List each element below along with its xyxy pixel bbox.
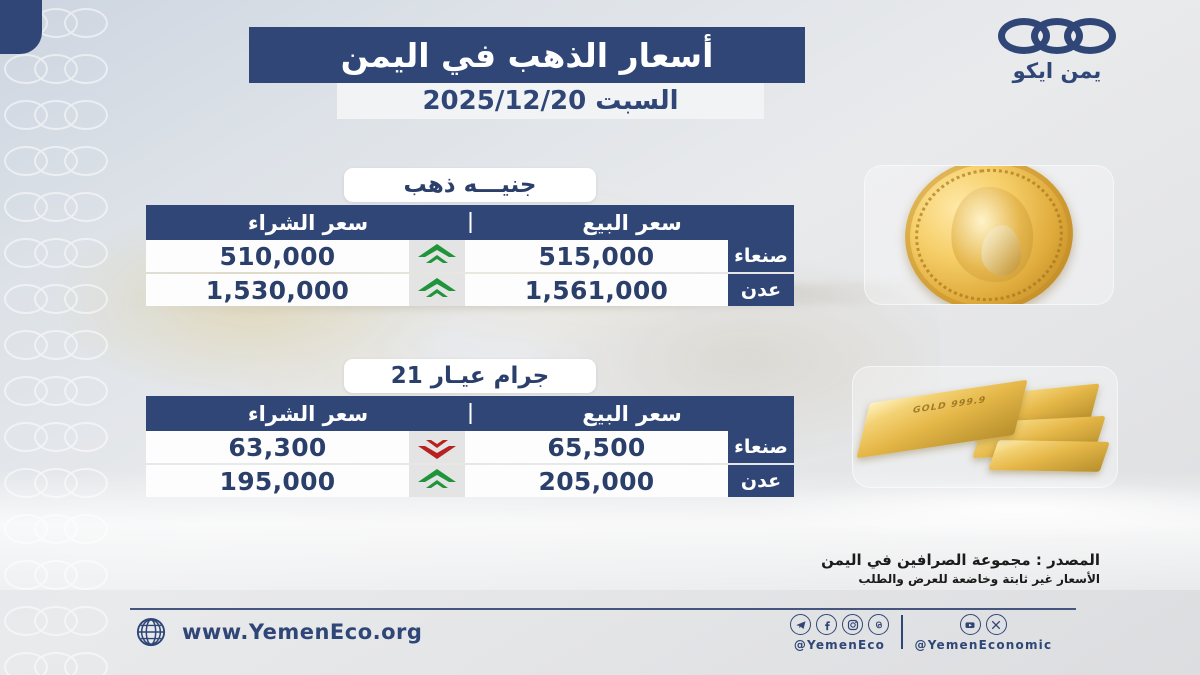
page-title-text: أسعار الذهب في اليمن — [341, 36, 714, 75]
watermark-ring-icon — [34, 100, 78, 130]
sell-price-cell: 1,561,000 — [465, 274, 728, 306]
watermark-ring-icon — [34, 468, 78, 498]
buy-price-cell: 510,000 — [146, 240, 409, 272]
price-section-gold-pound: جنيـــه ذهب سعر الشراء سعر البيع 510,000… — [146, 168, 794, 306]
watermark-ring-row — [4, 92, 120, 138]
watermark-ring-icon — [64, 192, 108, 222]
watermark-pattern — [0, 0, 120, 675]
source-disclaimer: الأسعار غير ثابتة وخاضعة للعرض والطلب — [821, 572, 1100, 586]
website-url: www.YemenEco.org — [182, 620, 422, 644]
double-chevron-down-icon — [417, 434, 457, 460]
sell-price-cell: 205,000 — [465, 465, 728, 497]
watermark-ring-row — [4, 276, 120, 322]
watermark-ring-row — [4, 368, 120, 414]
table-row: 1,530,000 1,561,000 عدن — [146, 274, 794, 306]
date-text: السبت 2025/12/20 — [422, 86, 678, 116]
watermark-ring-icon — [34, 514, 78, 544]
watermark-ring-icon — [4, 330, 48, 360]
page-title: أسعار الذهب في اليمن — [249, 27, 805, 83]
city-label: عدن — [728, 465, 794, 497]
double-chevron-up-icon — [417, 243, 457, 269]
watermark-ring-row — [4, 598, 120, 644]
column-header-sell: سعر البيع — [470, 396, 794, 431]
trend-cell — [409, 431, 465, 463]
city-label: صنعاء — [728, 431, 794, 463]
watermark-ring-icon — [64, 146, 108, 176]
watermark-ring-icon — [4, 422, 48, 452]
table-row: 195,000 205,000 عدن — [146, 465, 794, 497]
gold-price-infographic: أسعار الذهب في اليمن السبت 2025/12/20 يم… — [0, 0, 1200, 675]
watermark-ring-icon — [34, 330, 78, 360]
watermark-ring-icon — [4, 100, 48, 130]
watermark-ring-row — [4, 138, 120, 184]
watermark-ring-icon — [34, 606, 78, 636]
buy-price-cell: 1,530,000 — [146, 274, 409, 306]
price-table: سعر الشراء سعر البيع 510,000 515,000 صنع… — [146, 205, 794, 306]
watermark-ring-icon — [4, 652, 48, 675]
watermark-ring-icon — [4, 146, 48, 176]
source-note: المصدر : مجموعة الصرافين في اليمن الأسعا… — [821, 551, 1100, 586]
buy-price-cell: 63,300 — [146, 431, 409, 463]
city-label: عدن — [728, 274, 794, 306]
watermark-ring-row — [4, 184, 120, 230]
brand-logo: يمن ايكو — [992, 16, 1122, 83]
section-heading-text: جرام عيـار 21 — [391, 363, 550, 389]
table-header-row: سعر الشراء سعر البيع — [146, 396, 794, 431]
gold-bar-label: GOLD 999.9 — [911, 395, 987, 416]
date-banner: السبت 2025/12/20 — [337, 83, 764, 119]
watermark-ring-icon — [64, 284, 108, 314]
social-handle: @YemenEconomic — [915, 638, 1053, 652]
social-separator — [901, 615, 903, 649]
city-label: صنعاء — [728, 240, 794, 272]
watermark-ring-icon — [4, 514, 48, 544]
threads-icon[interactable] — [868, 614, 889, 635]
watermark-ring-icon — [34, 146, 78, 176]
section-heading: جرام عيـار 21 — [344, 359, 596, 393]
watermark-ring-icon — [64, 514, 108, 544]
coin-portrait — [945, 182, 1038, 287]
watermark-ring-icon — [4, 54, 48, 84]
watermark-ring-icon — [64, 330, 108, 360]
source-text: المصدر : مجموعة الصرافين في اليمن — [821, 551, 1100, 569]
watermark-ring-row — [4, 414, 120, 460]
watermark-ring-icon — [34, 284, 78, 314]
watermark-ring-icon — [34, 560, 78, 590]
double-chevron-up-icon — [417, 277, 457, 303]
gold-bars-image: GOLD 999.9 — [852, 366, 1118, 488]
watermark-ring-icon — [64, 560, 108, 590]
social-handle: @YemenEco — [794, 638, 885, 652]
watermark-ring-row — [4, 322, 120, 368]
watermark-ring-icon — [64, 238, 108, 268]
sell-price-cell: 515,000 — [465, 240, 728, 272]
watermark-ring-icon — [64, 422, 108, 452]
coin-profile-head — [978, 223, 1024, 278]
column-header-buy: سعر الشراء — [146, 205, 470, 240]
social-group-yemeneconomic: @YemenEconomic — [915, 614, 1053, 652]
gold-bar — [988, 440, 1110, 472]
three-rings-logo-icon — [998, 16, 1116, 56]
watermark-ring-icon — [34, 652, 78, 675]
watermark-ring-icon — [34, 376, 78, 406]
watermark-ring-row — [4, 230, 120, 276]
watermark-ring-icon — [34, 238, 78, 268]
x-icon[interactable] — [986, 614, 1007, 635]
background-sheen-highlight — [740, 480, 1200, 540]
watermark-ring-icon — [64, 376, 108, 406]
facebook-icon[interactable] — [816, 614, 837, 635]
column-header-buy: سعر الشراء — [146, 396, 470, 431]
watermark-ring-icon — [4, 284, 48, 314]
trend-cell — [409, 465, 465, 497]
watermark-ring-row — [4, 460, 120, 506]
social-links: @YemenEco @YemenEconomic — [790, 614, 1052, 652]
watermark-ring-icon — [34, 54, 78, 84]
buy-price-cell: 195,000 — [146, 465, 409, 497]
watermark-ring-icon — [34, 422, 78, 452]
watermark-ring-icon — [4, 560, 48, 590]
price-section-gram-21k: جرام عيـار 21 سعر الشراء سعر البيع 63,30… — [146, 359, 794, 497]
watermark-ring-row — [4, 506, 120, 552]
watermark-ring-icon — [64, 54, 108, 84]
section-heading-text: جنيـــه ذهب — [404, 172, 537, 198]
table-header-row: سعر الشراء سعر البيع — [146, 205, 794, 240]
column-header-sell: سعر البيع — [470, 205, 794, 240]
watermark-ring-icon — [64, 100, 108, 130]
double-chevron-up-icon — [417, 468, 457, 494]
watermark-ring-icon — [64, 8, 108, 38]
brand-name: يمن ايكو — [992, 59, 1122, 83]
sell-price-cell: 65,500 — [465, 431, 728, 463]
gold-sovereign-coin-icon — [896, 165, 1081, 305]
watermark-ring-row — [4, 552, 120, 598]
social-group-yemeneco: @YemenEco — [790, 614, 889, 652]
footer-divider — [130, 608, 1076, 610]
corner-accent-tab — [0, 0, 42, 54]
gold-coin-image — [864, 165, 1114, 305]
globe-icon — [136, 617, 166, 647]
watermark-ring-icon — [4, 238, 48, 268]
trend-cell — [409, 240, 465, 272]
price-table: سعر الشراء سعر البيع 63,300 65,500 صنعاء… — [146, 396, 794, 497]
watermark-ring-icon — [4, 376, 48, 406]
website-link[interactable]: www.YemenEco.org — [136, 617, 422, 647]
watermark-ring-icon — [4, 192, 48, 222]
table-row: 510,000 515,000 صنعاء — [146, 240, 794, 272]
watermark-ring-icon — [64, 606, 108, 636]
watermark-ring-icon — [64, 652, 108, 675]
watermark-ring-icon — [64, 468, 108, 498]
watermark-ring-icon — [34, 192, 78, 222]
section-heading: جنيـــه ذهب — [344, 168, 596, 202]
trend-cell — [409, 274, 465, 306]
table-row: 63,300 65,500 صنعاء — [146, 431, 794, 463]
instagram-icon[interactable] — [842, 614, 863, 635]
watermark-ring-icon — [4, 606, 48, 636]
telegram-icon[interactable] — [790, 614, 811, 635]
header-divider — [470, 212, 472, 233]
watermark-ring-row — [4, 644, 120, 675]
header-divider — [470, 403, 472, 424]
youtube-icon[interactable] — [960, 614, 981, 635]
watermark-ring-icon — [4, 468, 48, 498]
